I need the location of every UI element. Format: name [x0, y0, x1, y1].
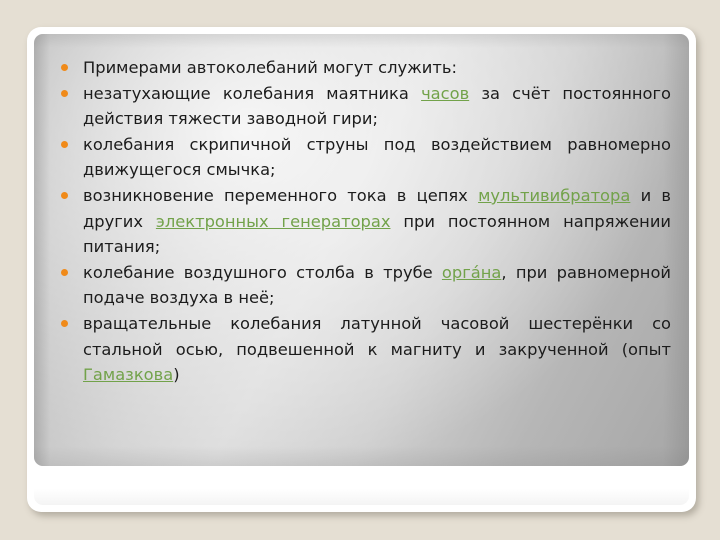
list-item-text: незатухающие колебания маятника часов за… [83, 81, 671, 132]
hyperlink[interactable]: мультивибратора [478, 186, 630, 205]
bullet-dot-icon [61, 141, 68, 148]
hyperlink[interactable]: часов [421, 84, 469, 103]
bullet-list: Примерами автоколебаний могут служить:не… [34, 34, 689, 388]
text-run: колебание воздушного столба в трубе [83, 263, 442, 282]
list-item-text: возникновение переменного тока в цепях м… [83, 183, 671, 260]
bullet-dot-icon [61, 269, 68, 276]
list-item-text: колебания скрипичной струны под воздейст… [83, 132, 671, 183]
hyperlink[interactable]: электронных генераторах [156, 212, 391, 231]
hyperlink[interactable]: Гамазкова [83, 365, 173, 384]
text-run: колебания скрипичной струны под воздейст… [83, 135, 671, 180]
bullet-dot-icon [61, 192, 68, 199]
list-item: незатухающие колебания маятника часов за… [55, 81, 671, 132]
list-item: колебание воздушного столба в трубе орга… [55, 260, 671, 311]
text-run: возникновение переменного тока в цепях [83, 186, 478, 205]
list-item-text: вращательные колебания латунной часовой … [83, 311, 671, 388]
list-item: вращательные колебания латунной часовой … [55, 311, 671, 388]
list-item: Примерами автоколебаний могут служить: [55, 55, 671, 81]
bullet-dot-icon [61, 320, 68, 327]
list-item: колебания скрипичной струны под воздейст… [55, 132, 671, 183]
content-card: Примерами автоколебаний могут служить:не… [27, 27, 696, 512]
slide: Примерами автоколебаний могут служить:не… [0, 0, 720, 540]
bullet-dot-icon [61, 90, 68, 97]
footer-bar [34, 468, 689, 505]
list-item-text: колебание воздушного столба в трубе орга… [83, 260, 671, 311]
list-item-text: Примерами автоколебаний могут служить: [83, 55, 671, 81]
text-run: ) [173, 365, 179, 384]
body-panel: Примерами автоколебаний могут служить:не… [34, 34, 689, 466]
hyperlink[interactable]: орга́на [442, 263, 501, 282]
text-run: вращательные колебания латунной часовой … [83, 314, 671, 359]
bullet-dot-icon [61, 64, 68, 71]
text-run: Примерами автоколебаний могут служить: [83, 58, 457, 77]
list-item: возникновение переменного тока в цепях м… [55, 183, 671, 260]
text-run: незатухающие колебания маятника [83, 84, 421, 103]
